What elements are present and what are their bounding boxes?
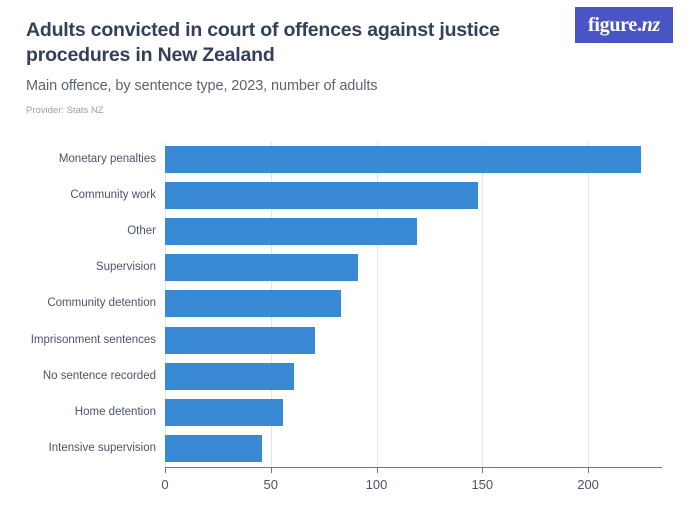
bar-row: Intensive supervision bbox=[165, 431, 660, 467]
bar-row: Community detention bbox=[165, 286, 660, 322]
bar[interactable] bbox=[165, 435, 262, 462]
logo-word-figure: figure. bbox=[588, 14, 642, 36]
bar[interactable] bbox=[165, 254, 358, 281]
x-tick-mark-150 bbox=[482, 467, 483, 473]
category-label: Home detention bbox=[75, 399, 156, 426]
chart-subtitle: Main offence, by sentence type, 2023, nu… bbox=[26, 77, 566, 95]
logo-wordmark: figure.nz bbox=[588, 14, 660, 37]
category-label: Community detention bbox=[47, 290, 156, 317]
bar[interactable] bbox=[165, 399, 283, 426]
bar[interactable] bbox=[165, 182, 478, 209]
x-tick-label-150: 150 bbox=[471, 477, 493, 492]
bar-row: Monetary penalties bbox=[165, 142, 660, 178]
category-label: Other bbox=[127, 218, 156, 245]
logo-word-nz: nz bbox=[642, 14, 660, 36]
bar-row: Imprisonment sentences bbox=[165, 323, 660, 359]
bar[interactable] bbox=[165, 146, 641, 173]
bar-row: Supervision bbox=[165, 250, 660, 286]
x-tick-label-0: 0 bbox=[161, 477, 168, 492]
x-tick-mark-0 bbox=[165, 467, 166, 473]
figure-nz-logo[interactable]: figure.nz bbox=[575, 7, 673, 43]
x-tick-label-50: 50 bbox=[264, 477, 278, 492]
bar-chart: Monetary penaltiesCommunity workOtherSup… bbox=[0, 136, 700, 496]
category-label: No sentence recorded bbox=[43, 363, 156, 390]
bar-row: Community work bbox=[165, 178, 660, 214]
bar[interactable] bbox=[165, 290, 341, 317]
bar-row: No sentence recorded bbox=[165, 359, 660, 395]
category-label: Imprisonment sentences bbox=[31, 327, 156, 354]
category-label: Monetary penalties bbox=[59, 146, 156, 173]
x-tick-label-200: 200 bbox=[577, 477, 599, 492]
x-tick-mark-200 bbox=[588, 467, 589, 473]
bar-row: Home detention bbox=[165, 395, 660, 431]
x-tick-mark-100 bbox=[377, 467, 378, 473]
x-tick-label-100: 100 bbox=[366, 477, 388, 492]
bar[interactable] bbox=[165, 363, 294, 390]
plot-area: Monetary penaltiesCommunity workOtherSup… bbox=[165, 142, 660, 467]
x-tick-mark-50 bbox=[271, 467, 272, 473]
category-label: Supervision bbox=[96, 254, 156, 281]
chart-header: Adults convicted in court of offences ag… bbox=[26, 18, 666, 117]
bar[interactable] bbox=[165, 218, 417, 245]
category-label: Community work bbox=[70, 182, 156, 209]
category-label: Intensive supervision bbox=[49, 435, 156, 462]
figure-nz-chart-page: Adults convicted in court of offences ag… bbox=[0, 0, 700, 525]
bar-row: Other bbox=[165, 214, 660, 250]
page-title: Adults convicted in court of offences ag… bbox=[26, 18, 546, 68]
provider-label: Provider: Stats NZ bbox=[26, 105, 666, 117]
bar[interactable] bbox=[165, 327, 315, 354]
